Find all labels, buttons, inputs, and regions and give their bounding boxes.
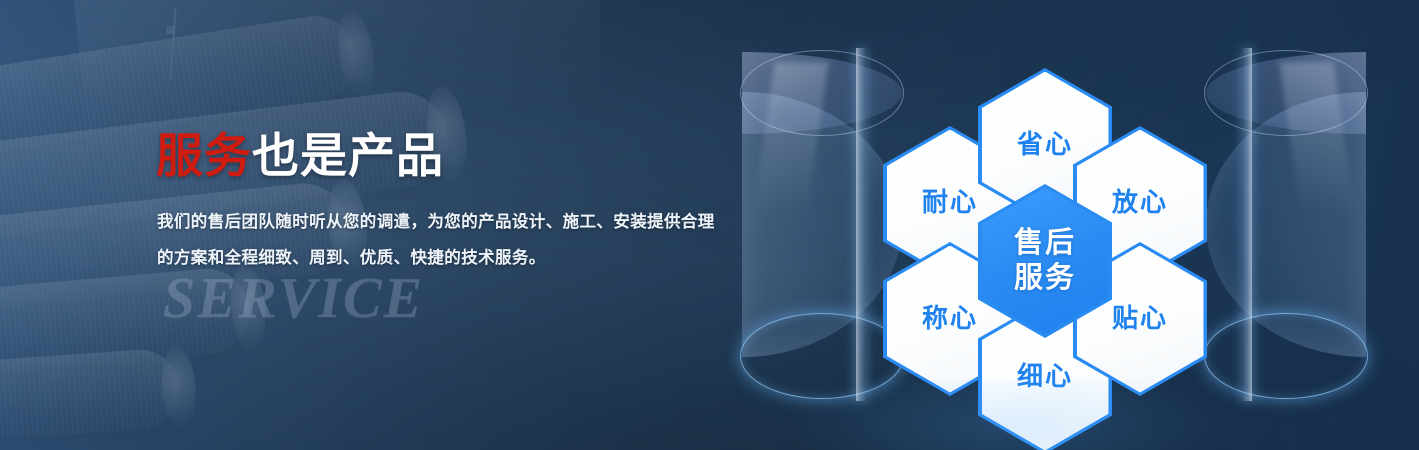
service-banner: SERVICE 服务也是产品 我们的售后团队随时听从您的调遣，为您的产品设计、施… [0,0,1419,450]
hexagon-label: 省心 [1017,131,1073,158]
glass-panel-right [1206,92,1366,357]
page-title-red: 服务 [156,129,252,182]
glass-bottom-ellipse [1204,313,1368,399]
hexagon-center-line2: 服务 [1014,261,1076,296]
hexagon-label: 称心 [922,305,978,332]
hexagon-cluster: 耐心 称心 省心 细心 放心 贴心 售后 服务 [880,48,1210,414]
page-title-white: 也是产品 [252,129,444,182]
hexagon-label: 放心 [1112,189,1168,216]
glass-spine [856,48,865,401]
hexagon-label: 细心 [1017,363,1073,390]
hexagon-center-label: 售后 服务 [1014,226,1076,297]
page-title: 服务也是产品 [156,132,444,179]
description-text: 我们的售后团队随时听从您的调遣，为您的产品设计、施工、安装提供合理的方案和全程细… [157,204,717,276]
hexagon-label: 耐心 [922,189,978,216]
hexagon-center-line1: 售后 [1014,226,1076,261]
glass-spine [1243,48,1252,401]
glass-panel-left [742,92,902,357]
hexagon-label: 贴心 [1112,305,1168,332]
